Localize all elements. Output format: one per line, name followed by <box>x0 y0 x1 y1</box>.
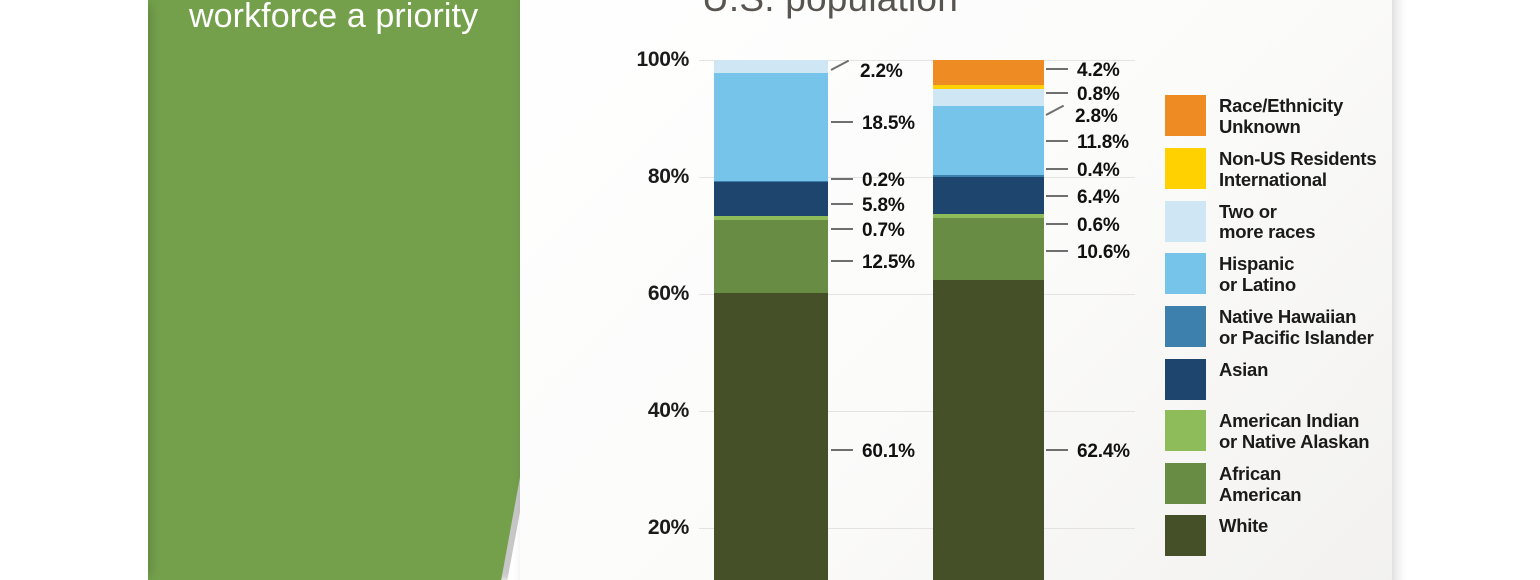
legend-swatch-icon <box>1165 253 1206 294</box>
legend-item-label: Two or more races <box>1219 201 1315 244</box>
legend-item-label: American Indian or Native Alaskan <box>1219 410 1369 453</box>
slide-root: workforce a priority U.S. population 100… <box>0 0 1540 580</box>
green-panel-headline: workforce a priority <box>147 0 547 36</box>
leader-line-icon <box>1046 140 1068 142</box>
legend-item-label: Hispanic or Latino <box>1219 253 1296 296</box>
legend-item-asian[interactable]: Asian <box>1165 359 1392 400</box>
legend-swatch-icon <box>1165 463 1206 504</box>
chart-card: U.S. population 100% 80% 60% 40% 20% <box>520 0 1392 580</box>
segment-two-or-more-races-2[interactable] <box>933 89 1044 105</box>
segment-white-2[interactable] <box>933 280 1044 580</box>
segment-african-american-2[interactable] <box>933 218 1044 280</box>
legend-item-label: Race/Ethnicity Unknown <box>1219 95 1343 138</box>
legend-item-label: Native Hawaiian or Pacific Islander <box>1219 306 1374 349</box>
legend-item-african-american[interactable]: African American <box>1165 463 1392 506</box>
legend-swatch-icon <box>1165 95 1206 136</box>
leader-line-icon <box>831 260 853 262</box>
leader-line-icon <box>1046 223 1068 225</box>
segment-two-or-more-races-1[interactable] <box>714 60 828 73</box>
legend-item-race-unknown[interactable]: Race/Ethnicity Unknown <box>1165 95 1392 138</box>
ytick-20: 20% <box>625 516 689 540</box>
ytick-80: 80% <box>625 165 689 189</box>
legend-swatch-icon <box>1165 410 1206 451</box>
leader-line-icon <box>1046 195 1068 197</box>
legend-item-white[interactable]: White <box>1165 515 1392 556</box>
callout-bar2-two-or-more-races: 2.8% <box>1046 106 1118 128</box>
legend-item-native-hawaiian[interactable]: Native Hawaiian or Pacific Islander <box>1165 306 1392 349</box>
callout-bar2-white: 62.4% <box>1046 441 1130 463</box>
callout-bar1-hispanic-latino: 18.5% <box>831 113 915 135</box>
leader-line-icon <box>1046 168 1068 170</box>
legend-swatch-icon <box>1165 359 1206 400</box>
callout-bar1-american-indian: 0.7% <box>831 220 905 242</box>
leader-line-icon <box>1046 105 1065 116</box>
legend-item-label: Asian <box>1219 359 1268 381</box>
callout-bar1-asian: 5.8% <box>831 195 905 217</box>
legend-swatch-icon <box>1165 148 1206 189</box>
legend-item-two-or-more-races[interactable]: Two or more races <box>1165 201 1392 244</box>
leader-line-icon <box>831 121 853 123</box>
callout-bar2-hispanic-latino: 11.8% <box>1046 132 1129 154</box>
bar-column-2[interactable] <box>933 60 1044 580</box>
ytick-100: 100% <box>625 48 689 72</box>
legend-item-hispanic-latino[interactable]: Hispanic or Latino <box>1165 253 1392 296</box>
legend-item-label: African American <box>1219 463 1301 506</box>
legend-swatch-icon <box>1165 306 1206 347</box>
segment-hispanic-latino-2[interactable] <box>933 106 1044 175</box>
callout-bar2-asian: 6.4% <box>1046 187 1120 209</box>
legend-item-label: White <box>1219 515 1268 537</box>
callout-bar1-two-or-more-races: 2.2% <box>831 61 903 83</box>
segment-hispanic-latino-1[interactable] <box>714 73 828 181</box>
plot-area: 100% 80% 60% 40% 20% <box>625 55 1135 580</box>
leader-line-icon <box>831 178 853 180</box>
segment-white-1[interactable] <box>714 293 828 580</box>
segment-race-unknown-2[interactable] <box>933 60 1044 85</box>
callout-bar2-american-indian: 0.6% <box>1046 215 1120 237</box>
leader-line-icon <box>1046 92 1068 94</box>
callout-bar2-non-us-residents: 0.8% <box>1046 84 1120 106</box>
leader-line-icon <box>1046 68 1068 70</box>
legend-swatch-icon <box>1165 515 1206 556</box>
leader-line-icon <box>831 203 853 205</box>
legend-item-non-us-residents[interactable]: Non-US Residents International <box>1165 148 1392 191</box>
chart-title: U.S. population <box>520 0 1140 20</box>
callout-bar1-african-american: 12.5% <box>831 252 915 274</box>
segment-asian-1[interactable] <box>714 182 828 216</box>
legend-item-label: Non-US Residents International <box>1219 148 1376 191</box>
leader-line-icon <box>831 60 850 71</box>
leader-line-icon <box>831 449 853 451</box>
leader-line-icon <box>1046 449 1068 451</box>
left-margin <box>0 0 148 580</box>
leader-line-icon <box>831 228 853 230</box>
bar-column-1[interactable] <box>714 60 828 580</box>
chart-legend: Race/Ethnicity Unknown Non-US Residents … <box>1165 95 1392 566</box>
callout-bar1-white: 60.1% <box>831 441 915 463</box>
legend-swatch-icon <box>1165 201 1206 242</box>
legend-item-american-indian[interactable]: American Indian or Native Alaskan <box>1165 410 1392 453</box>
leader-line-icon <box>1046 250 1068 252</box>
ytick-40: 40% <box>625 399 689 423</box>
callout-bar2-native-hawaiian: 0.4% <box>1046 160 1120 182</box>
callout-bar1-native-hawaiian: 0.2% <box>831 170 905 192</box>
ytick-60: 60% <box>625 282 689 306</box>
callout-bar2-race-unknown: 4.2% <box>1046 60 1120 82</box>
callout-bar2-african-american: 10.6% <box>1046 242 1130 264</box>
segment-asian-2[interactable] <box>933 177 1044 214</box>
segment-african-american-1[interactable] <box>714 220 828 293</box>
